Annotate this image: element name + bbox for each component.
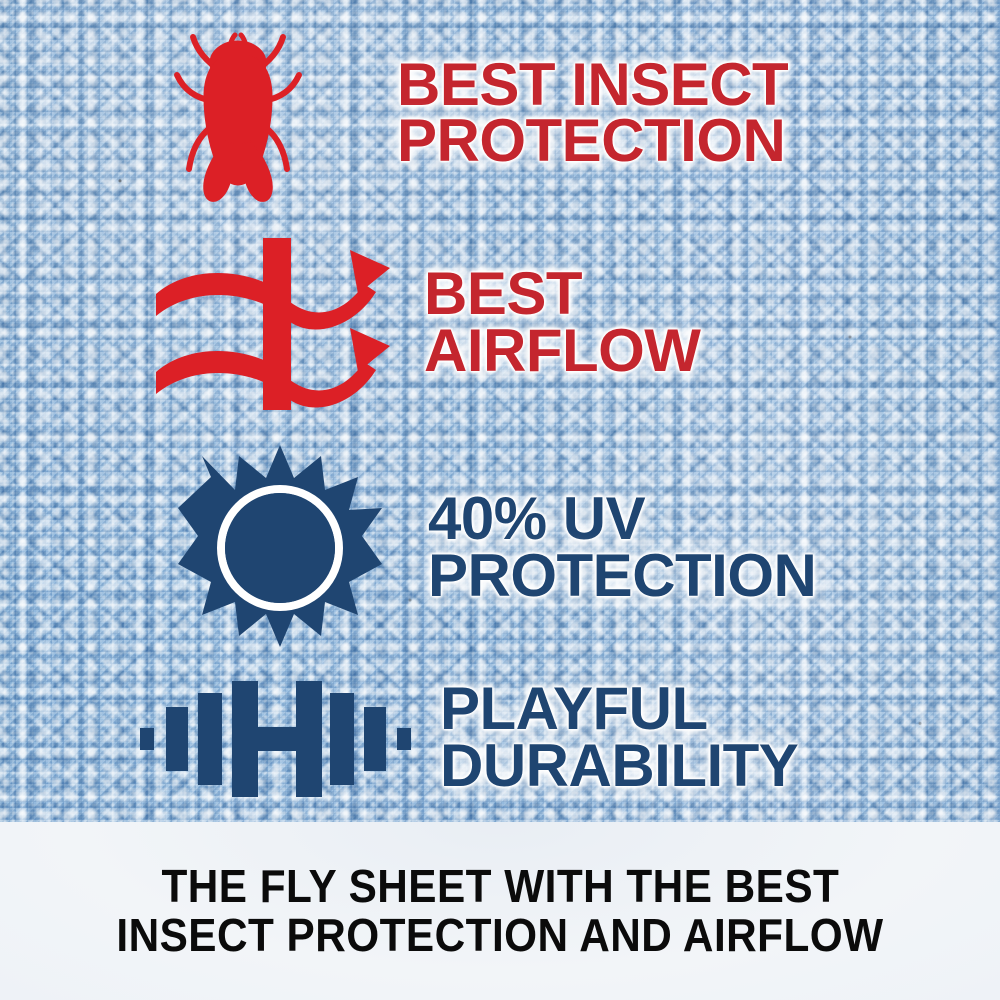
bottom-tagline-banner: THE FLY SHEET WITH THE BEST INSECT PROTE…: [0, 822, 1000, 1000]
feature-line: BEST INSECT: [397, 57, 788, 113]
product-feature-poster: BEST INSECT PROTECTION: [0, 0, 1000, 1000]
tagline-line-1: THE FLY SHEET WITH THE BEST: [161, 862, 839, 911]
feature-line: PLAYFUL: [440, 681, 798, 737]
airflow-arrows-icon: [147, 228, 402, 418]
dumbbell-icon: [130, 668, 420, 808]
feature-row-airflow: BEST AIRFLOW: [150, 225, 1000, 420]
feature-text-durability: PLAYFUL DURABILITY: [440, 681, 798, 794]
feature-line: AIRFLOW: [424, 323, 700, 379]
feature-line: DURABILITY: [440, 738, 798, 794]
feature-text-insect-protection: BEST INSECT PROTECTION: [397, 57, 788, 170]
feature-text-uv-protection: 40% UV PROTECTION: [428, 491, 816, 604]
tagline-line-2: INSECT PROTECTION AND AIRFLOW: [116, 911, 883, 960]
feature-line: PROTECTION: [397, 113, 788, 169]
fly-icon: [150, 23, 325, 203]
feature-row-durability: PLAYFUL DURABILITY: [130, 655, 1000, 820]
feature-line: BEST: [424, 266, 700, 322]
feature-line: PROTECTION: [428, 548, 816, 604]
feature-row-insect-protection: BEST INSECT PROTECTION: [150, 18, 1000, 208]
sun-icon: [160, 440, 400, 655]
feature-text-airflow: BEST AIRFLOW: [424, 266, 700, 379]
feature-line: 40% UV: [428, 491, 816, 547]
feature-row-uv-protection: 40% UV PROTECTION: [150, 440, 1000, 655]
